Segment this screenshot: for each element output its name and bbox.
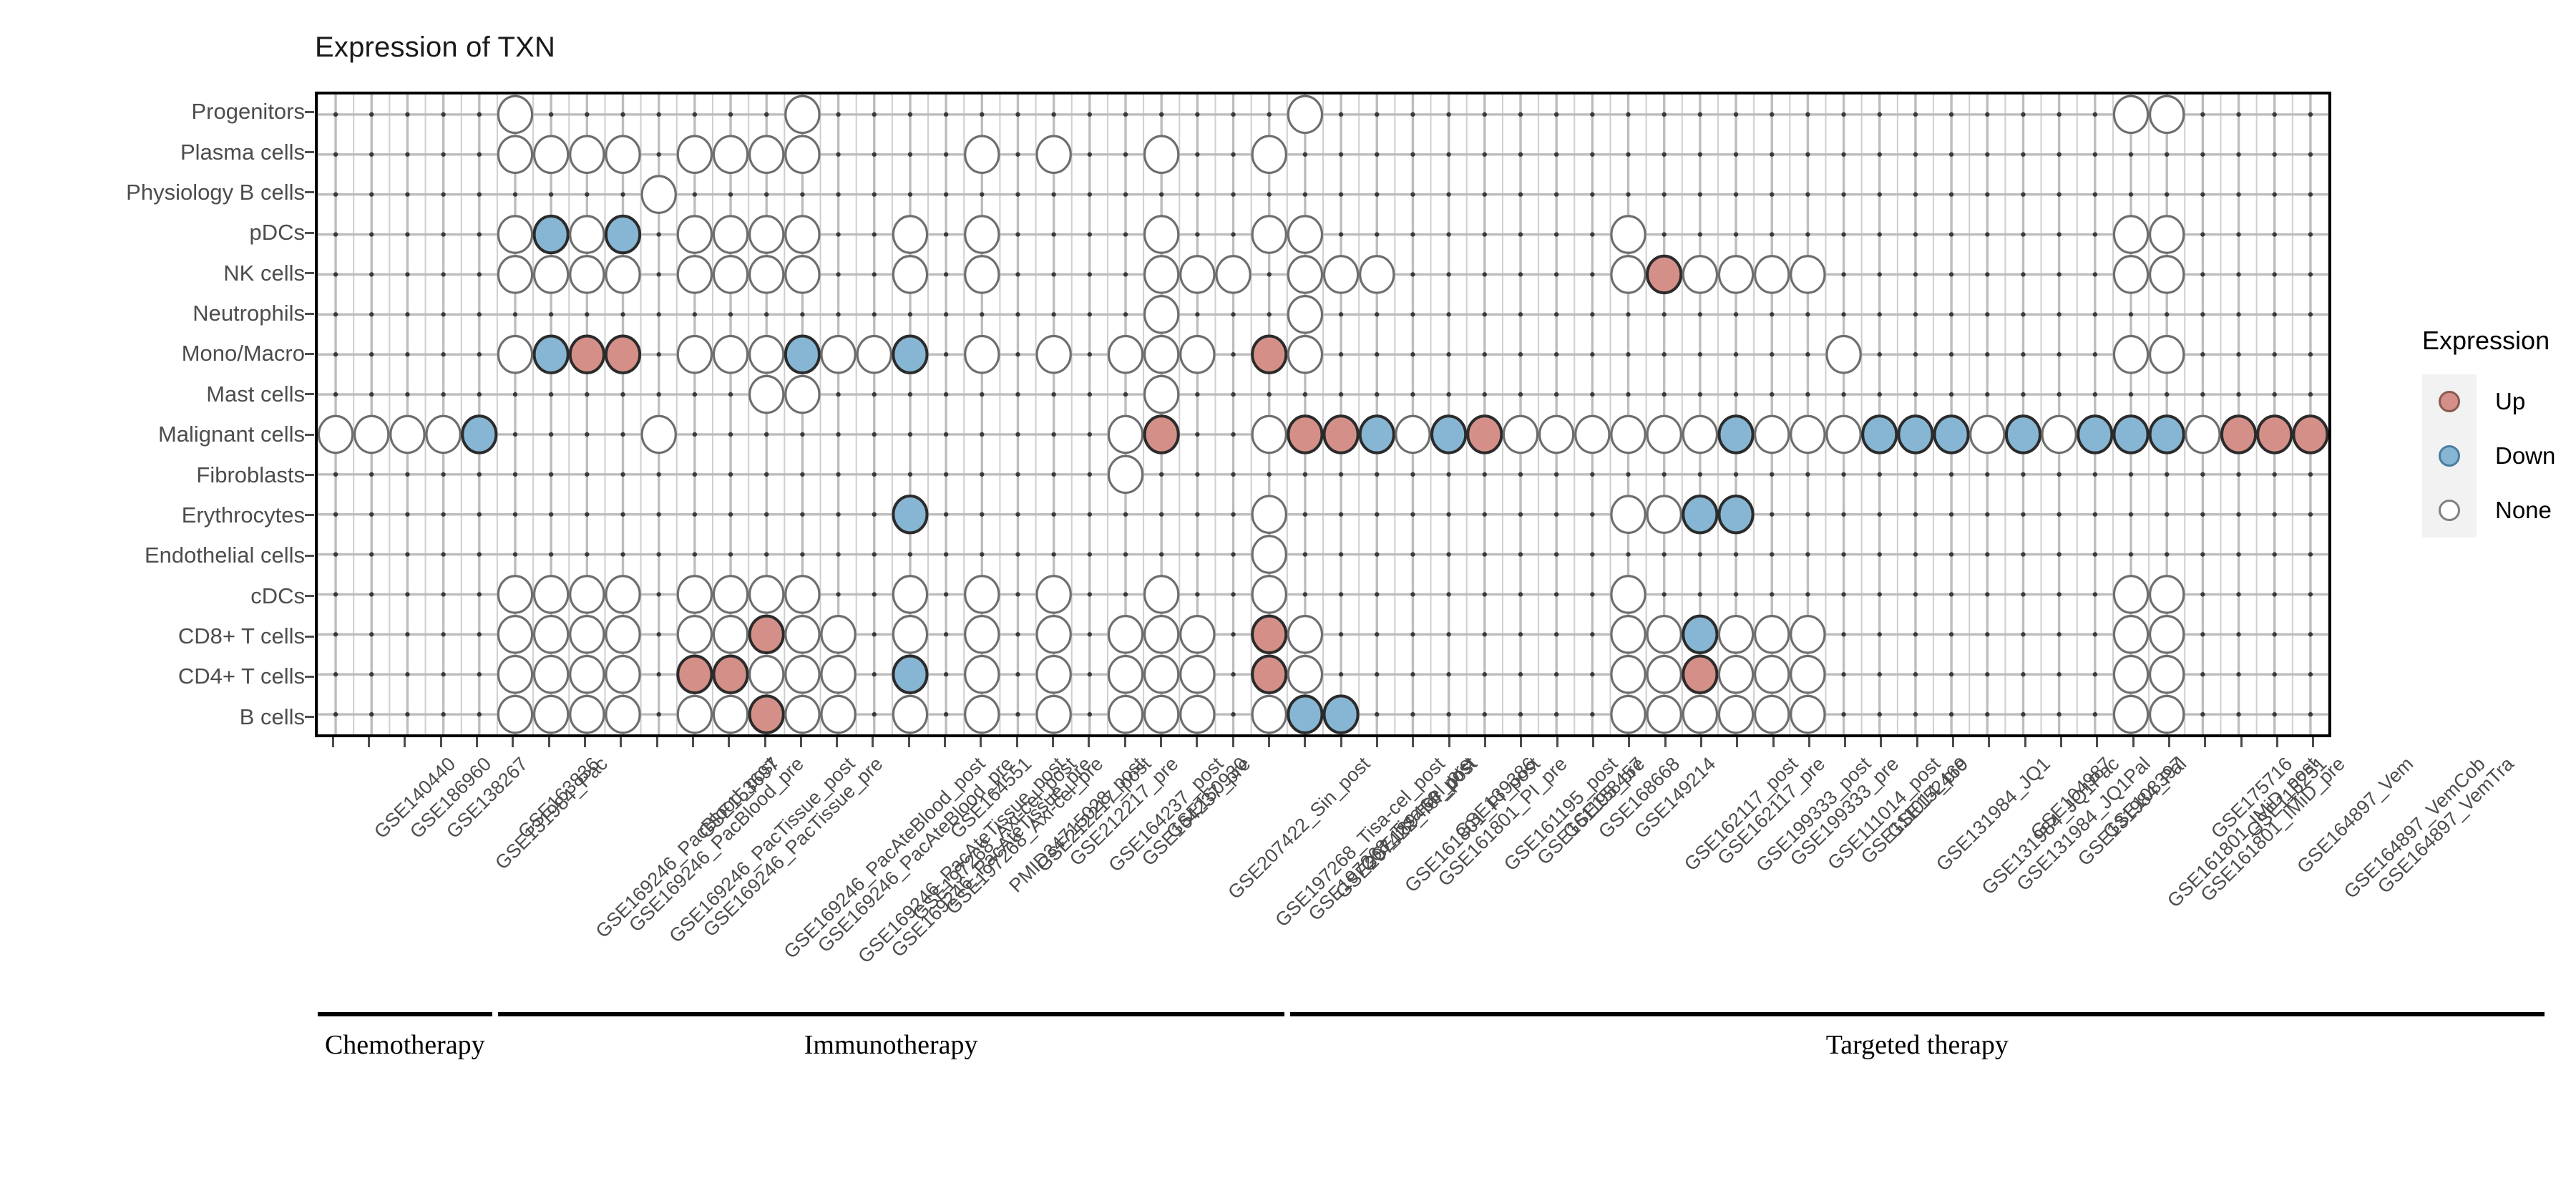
x-axis-tick xyxy=(332,737,334,747)
x-axis-tick xyxy=(692,737,694,747)
x-axis-tick xyxy=(1952,737,1954,747)
expression-dot xyxy=(570,216,604,253)
expression-dot xyxy=(535,656,568,692)
x-axis-tick xyxy=(1520,737,1522,747)
expression-dot xyxy=(570,576,604,613)
expression-dot xyxy=(498,656,532,692)
x-axis-tick xyxy=(872,737,874,747)
expression-dot xyxy=(1108,416,1142,452)
expression-dot xyxy=(713,136,747,172)
x-axis-tick xyxy=(836,737,838,747)
y-axis-tick xyxy=(305,111,314,113)
expression-dot xyxy=(1827,416,1860,452)
legend-item[interactable]: Up xyxy=(2422,374,2555,429)
x-axis-tick xyxy=(1664,737,1667,747)
y-axis-label: Malignant cells xyxy=(158,422,305,447)
expression-dot xyxy=(1288,216,1322,253)
expression-dot xyxy=(2150,256,2184,293)
x-axis-tick xyxy=(1592,737,1594,747)
expression-dot xyxy=(1252,656,1286,692)
expression-dot xyxy=(713,696,747,732)
y-axis-label: cDCs xyxy=(250,583,305,609)
y-axis-tick xyxy=(305,474,314,476)
x-axis-tick xyxy=(980,737,982,747)
legend-swatch xyxy=(2422,483,2477,538)
expression-dot xyxy=(1791,416,1825,452)
expression-dot xyxy=(1288,96,1322,132)
y-axis: ProgenitorsPlasma cellsPhysiology B cell… xyxy=(0,92,305,737)
legend-item[interactable]: Down xyxy=(2422,429,2555,483)
expression-dot xyxy=(1037,576,1070,613)
expression-dot xyxy=(1791,656,1825,692)
expression-dot xyxy=(535,696,568,732)
expression-dot xyxy=(678,256,711,293)
expression-dot xyxy=(893,216,927,253)
expression-dot xyxy=(606,256,640,293)
y-axis-tick xyxy=(305,191,314,193)
expression-dot xyxy=(1181,696,1214,732)
expression-dot xyxy=(1791,256,1825,293)
expression-dot xyxy=(2150,336,2184,372)
expression-dot xyxy=(1468,416,1501,452)
expression-dot xyxy=(2114,616,2147,653)
expression-dot xyxy=(1647,696,1681,732)
expression-dot xyxy=(857,336,891,372)
x-axis-tick xyxy=(1628,737,1630,747)
x-axis-tick xyxy=(1808,737,1810,747)
expression-dot xyxy=(893,616,927,653)
expression-dot xyxy=(893,576,927,613)
x-axis-tick xyxy=(1088,737,1090,747)
y-axis-tick xyxy=(305,514,314,516)
expression-dot xyxy=(1108,336,1142,372)
y-axis-tick xyxy=(305,232,314,234)
expression-dot xyxy=(1611,496,1645,533)
x-axis-tick xyxy=(800,737,802,747)
y-axis-tick xyxy=(305,636,314,638)
legend-dot-icon xyxy=(2439,391,2460,412)
expression-dot xyxy=(678,216,711,253)
expression-dot xyxy=(786,576,819,613)
expression-dot xyxy=(750,696,784,732)
y-axis-tick xyxy=(305,676,314,678)
x-axis-tick xyxy=(2024,737,2026,747)
y-axis-label: B cells xyxy=(240,704,305,730)
expression-dot xyxy=(1108,456,1142,492)
expression-dot xyxy=(1683,416,1717,452)
x-axis-tick xyxy=(2168,737,2170,747)
expression-dot xyxy=(535,216,568,253)
expression-dot xyxy=(786,656,819,692)
expression-dot xyxy=(893,336,927,372)
expression-dot xyxy=(1037,616,1070,653)
expression-dot xyxy=(1216,256,1250,293)
expression-dot xyxy=(750,216,784,253)
expression-dot xyxy=(2258,416,2291,452)
x-axis-tick xyxy=(404,737,406,747)
expression-dot xyxy=(1576,416,1609,452)
x-axis-tick xyxy=(1736,737,1738,747)
expression-dot xyxy=(535,576,568,613)
expression-dot xyxy=(606,696,640,732)
expression-dot xyxy=(750,136,784,172)
x-axis-tick xyxy=(2312,737,2314,747)
expression-dot xyxy=(965,656,999,692)
expression-dot xyxy=(1755,656,1789,692)
expression-dot xyxy=(1181,656,1214,692)
expression-dot xyxy=(355,416,389,452)
expression-dot xyxy=(713,336,747,372)
x-axis-tick xyxy=(548,737,550,747)
expression-dot xyxy=(535,616,568,653)
expression-dot xyxy=(1719,616,1752,653)
expression-dot xyxy=(1037,336,1070,372)
expression-dot xyxy=(319,416,353,452)
expression-dot xyxy=(1252,576,1286,613)
expression-dot xyxy=(821,336,855,372)
therapy-group-label: Chemotherapy xyxy=(325,1029,485,1061)
x-axis-tick xyxy=(1484,737,1486,747)
x-axis-tick xyxy=(1196,737,1198,747)
expression-dot xyxy=(1252,536,1286,573)
expression-dot xyxy=(965,696,999,732)
x-axis-tick xyxy=(1160,737,1162,747)
expression-dot xyxy=(1288,336,1322,372)
y-axis-label: Fibroblasts xyxy=(196,462,305,488)
y-axis-label: Neutrophils xyxy=(192,301,305,326)
expression-dot xyxy=(1755,416,1789,452)
therapy-group-bar xyxy=(318,1012,492,1016)
y-axis-tick xyxy=(305,151,314,153)
legend-keys: UpDownNone xyxy=(2422,374,2555,538)
expression-dot xyxy=(678,336,711,372)
expression-dot xyxy=(965,616,999,653)
expression-dot xyxy=(1145,296,1179,333)
expression-dot xyxy=(786,696,819,732)
expression-dot xyxy=(2150,416,2184,452)
x-axis-tick xyxy=(908,737,910,747)
expression-dot xyxy=(1108,696,1142,732)
x-axis-tick xyxy=(1772,737,1775,747)
x-axis-tick xyxy=(1700,737,1702,747)
expression-dot xyxy=(1252,136,1286,172)
y-axis-label: Endothelial cells xyxy=(145,543,305,568)
expression-dot xyxy=(750,576,784,613)
expression-dot xyxy=(1719,416,1752,452)
expression-dot xyxy=(750,656,784,692)
expression-dot xyxy=(606,616,640,653)
expression-dot xyxy=(498,696,532,732)
expression-dot xyxy=(570,696,604,732)
expression-dot xyxy=(1145,256,1179,293)
expression-dot xyxy=(2114,696,2147,732)
expression-dot xyxy=(1181,256,1214,293)
expression-dot xyxy=(606,336,640,372)
expression-dot xyxy=(1288,256,1322,293)
x-axis-tick xyxy=(728,737,730,747)
expression-dot xyxy=(821,656,855,692)
x-axis-label: GSE164897_VemCob xyxy=(2339,753,2489,903)
expression-dot xyxy=(1288,416,1322,452)
expression-dot xyxy=(1324,416,1358,452)
expression-dot xyxy=(1755,256,1789,293)
expression-dot xyxy=(1037,136,1070,172)
expression-dot xyxy=(498,336,532,372)
y-axis-label: Physiology B cells xyxy=(126,180,305,205)
legend-swatch xyxy=(2422,374,2477,429)
x-axis-tick xyxy=(1268,737,1270,747)
expression-dot xyxy=(535,336,568,372)
y-axis-label: CD8+ T cells xyxy=(178,623,305,649)
expression-dot xyxy=(1360,256,1394,293)
x-axis-tick xyxy=(2204,737,2206,747)
expression-dot xyxy=(1145,656,1179,692)
x-axis-tick xyxy=(2276,737,2278,747)
legend-title: Expression xyxy=(2422,326,2555,356)
expression-dot xyxy=(570,256,604,293)
expression-dot xyxy=(1719,696,1752,732)
expression-dot xyxy=(1791,616,1825,653)
expression-dot xyxy=(2006,416,2040,452)
expression-dot xyxy=(1683,656,1717,692)
dot-layer xyxy=(318,94,2328,734)
therapy-group-label: Targeted therapy xyxy=(1826,1029,2009,1061)
expression-dot xyxy=(1611,216,1645,253)
expression-dot xyxy=(1755,616,1789,653)
expression-dot xyxy=(713,216,747,253)
expression-dot xyxy=(1145,576,1179,613)
expression-dot xyxy=(2186,416,2220,452)
expression-dot xyxy=(1145,616,1179,653)
expression-dot xyxy=(786,96,819,132)
legend-label: Down xyxy=(2495,442,2555,470)
y-axis-tick xyxy=(305,595,314,597)
legend-item[interactable]: None xyxy=(2422,483,2555,538)
expression-dot xyxy=(1252,416,1286,452)
y-axis-tick xyxy=(305,272,314,274)
expression-dot xyxy=(606,656,640,692)
expression-dot xyxy=(1181,616,1214,653)
expression-dot xyxy=(1252,216,1286,253)
legend-label: None xyxy=(2495,497,2552,524)
expression-dot xyxy=(786,376,819,412)
x-axis-tick xyxy=(620,737,622,747)
expression-dot xyxy=(1145,216,1179,253)
x-axis-tick xyxy=(1232,737,1234,747)
expression-dot xyxy=(2150,216,2184,253)
expression-dot xyxy=(1611,576,1645,613)
expression-dot xyxy=(1719,496,1752,533)
x-axis-tick xyxy=(1988,737,1990,747)
therapy-group-bar xyxy=(498,1012,1284,1016)
expression-dot xyxy=(1971,416,2004,452)
expression-dot xyxy=(2114,576,2147,613)
x-axis-tick xyxy=(1412,737,1414,747)
x-axis-tick xyxy=(1916,737,1918,747)
expression-dot xyxy=(1288,656,1322,692)
expression-dot xyxy=(678,136,711,172)
x-axis-tick xyxy=(1376,737,1378,747)
x-axis-tick xyxy=(1340,737,1342,747)
expression-dot xyxy=(2150,616,2184,653)
expression-dot xyxy=(750,256,784,293)
expression-dot xyxy=(1288,296,1322,333)
expression-dot xyxy=(570,656,604,692)
expression-dot xyxy=(1719,256,1752,293)
expression-dot xyxy=(1503,416,1537,452)
x-axis-tick xyxy=(1124,737,1126,747)
y-axis-label: Progenitors xyxy=(191,99,305,125)
expression-dot xyxy=(498,96,532,132)
expression-dot xyxy=(1683,256,1717,293)
legend: Expression UpDownNone xyxy=(2422,326,2555,538)
expression-dot xyxy=(535,256,568,293)
expression-dot xyxy=(1647,416,1681,452)
expression-dot xyxy=(1683,696,1717,732)
expression-dot xyxy=(1827,336,1860,372)
expression-dot xyxy=(965,336,999,372)
x-axis-tick xyxy=(1880,737,1882,747)
expression-dot xyxy=(893,696,927,732)
y-axis-tick xyxy=(305,313,314,315)
expression-dot xyxy=(1755,696,1789,732)
expression-dot xyxy=(786,616,819,653)
expression-dot xyxy=(2150,96,2184,132)
expression-dot xyxy=(786,216,819,253)
x-axis-tick xyxy=(2240,737,2243,747)
expression-dot xyxy=(1324,256,1358,293)
expression-dot xyxy=(606,576,640,613)
expression-dot xyxy=(1647,496,1681,533)
y-axis-tick xyxy=(305,555,314,557)
expression-dot xyxy=(750,616,784,653)
expression-dot xyxy=(1540,416,1574,452)
y-axis-label: Mono/Macro xyxy=(182,341,305,366)
page-title: Expression of TXN xyxy=(315,31,555,64)
expression-dot xyxy=(462,416,496,452)
expression-dot xyxy=(1396,416,1430,452)
expression-dot xyxy=(1935,416,1968,452)
expression-dot xyxy=(498,216,532,253)
expression-dot xyxy=(391,416,424,452)
y-axis-tick xyxy=(305,434,314,436)
expression-dot xyxy=(1252,496,1286,533)
expression-dot xyxy=(570,136,604,172)
expression-dot xyxy=(713,576,747,613)
x-axis-tick xyxy=(1016,737,1018,747)
expression-dot xyxy=(2078,416,2112,452)
y-axis-label: pDCs xyxy=(249,220,305,246)
expression-dot xyxy=(535,136,568,172)
expression-dot xyxy=(678,656,711,692)
expression-dot xyxy=(893,656,927,692)
expression-dot xyxy=(2150,696,2184,732)
x-axis-tick xyxy=(2132,737,2135,747)
expression-dot xyxy=(965,136,999,172)
y-axis-label: Mast cells xyxy=(206,381,305,407)
expression-dot xyxy=(498,136,532,172)
legend-dot-icon xyxy=(2439,445,2460,467)
expression-dot xyxy=(1791,696,1825,732)
expression-dot xyxy=(2150,576,2184,613)
expression-dot xyxy=(893,256,927,293)
therapy-group-label: Immunotherapy xyxy=(804,1029,978,1061)
expression-dot xyxy=(1037,696,1070,732)
expression-dot xyxy=(1611,656,1645,692)
expression-dot xyxy=(2293,416,2327,452)
expression-dot xyxy=(2114,96,2147,132)
expression-dot xyxy=(678,616,711,653)
expression-dot xyxy=(1108,616,1142,653)
expression-dot xyxy=(750,376,784,412)
expression-dot xyxy=(498,616,532,653)
expression-dot xyxy=(2114,656,2147,692)
expression-dot xyxy=(1611,256,1645,293)
legend-dot-icon xyxy=(2439,500,2460,521)
expression-dot xyxy=(786,136,819,172)
expression-dot xyxy=(2042,416,2076,452)
expression-dot xyxy=(713,256,747,293)
expression-dot xyxy=(678,696,711,732)
y-axis-label: Plasma cells xyxy=(180,140,305,165)
dotplot-panel xyxy=(315,92,2331,737)
x-axis-tick xyxy=(2096,737,2098,747)
x-axis-tick xyxy=(1448,737,1450,747)
x-axis-tick xyxy=(584,737,586,747)
expression-dot xyxy=(1145,376,1179,412)
expression-dot xyxy=(1252,616,1286,653)
expression-dot xyxy=(606,136,640,172)
expression-dot xyxy=(606,216,640,253)
therapy-group-bar xyxy=(1290,1012,2545,1016)
expression-dot xyxy=(570,336,604,372)
expression-dot xyxy=(498,576,532,613)
expression-dot xyxy=(1611,696,1645,732)
y-axis-tick xyxy=(305,716,314,718)
expression-dot xyxy=(1037,656,1070,692)
expression-dot xyxy=(1324,696,1358,732)
expression-dot xyxy=(1108,656,1142,692)
expression-dot xyxy=(498,256,532,293)
expression-dot xyxy=(1863,416,1896,452)
y-axis-label: Erythrocytes xyxy=(182,502,305,528)
expression-dot xyxy=(2114,256,2147,293)
x-axis-tick xyxy=(1844,737,1846,747)
expression-dot xyxy=(786,256,819,293)
expression-dot xyxy=(713,656,747,692)
y-axis-tick xyxy=(305,353,314,355)
expression-dot xyxy=(821,616,855,653)
expression-dot xyxy=(750,336,784,372)
expression-dot xyxy=(1252,336,1286,372)
x-axis-tick xyxy=(656,737,658,747)
expression-dot xyxy=(2150,656,2184,692)
y-axis-label: CD4+ T cells xyxy=(178,664,305,689)
expression-dot xyxy=(642,416,675,452)
expression-dot xyxy=(1898,416,1932,452)
expression-dot xyxy=(1145,136,1179,172)
expression-dot xyxy=(1611,616,1645,653)
expression-dot xyxy=(570,616,604,653)
expression-dot xyxy=(1647,616,1681,653)
expression-dot xyxy=(821,696,855,732)
expression-dot xyxy=(1683,616,1717,653)
x-axis-tick xyxy=(368,737,370,747)
expression-dot xyxy=(2114,336,2147,372)
expression-dot xyxy=(1719,656,1752,692)
x-axis-tick xyxy=(1556,737,1558,747)
expression-dot xyxy=(1647,256,1681,293)
